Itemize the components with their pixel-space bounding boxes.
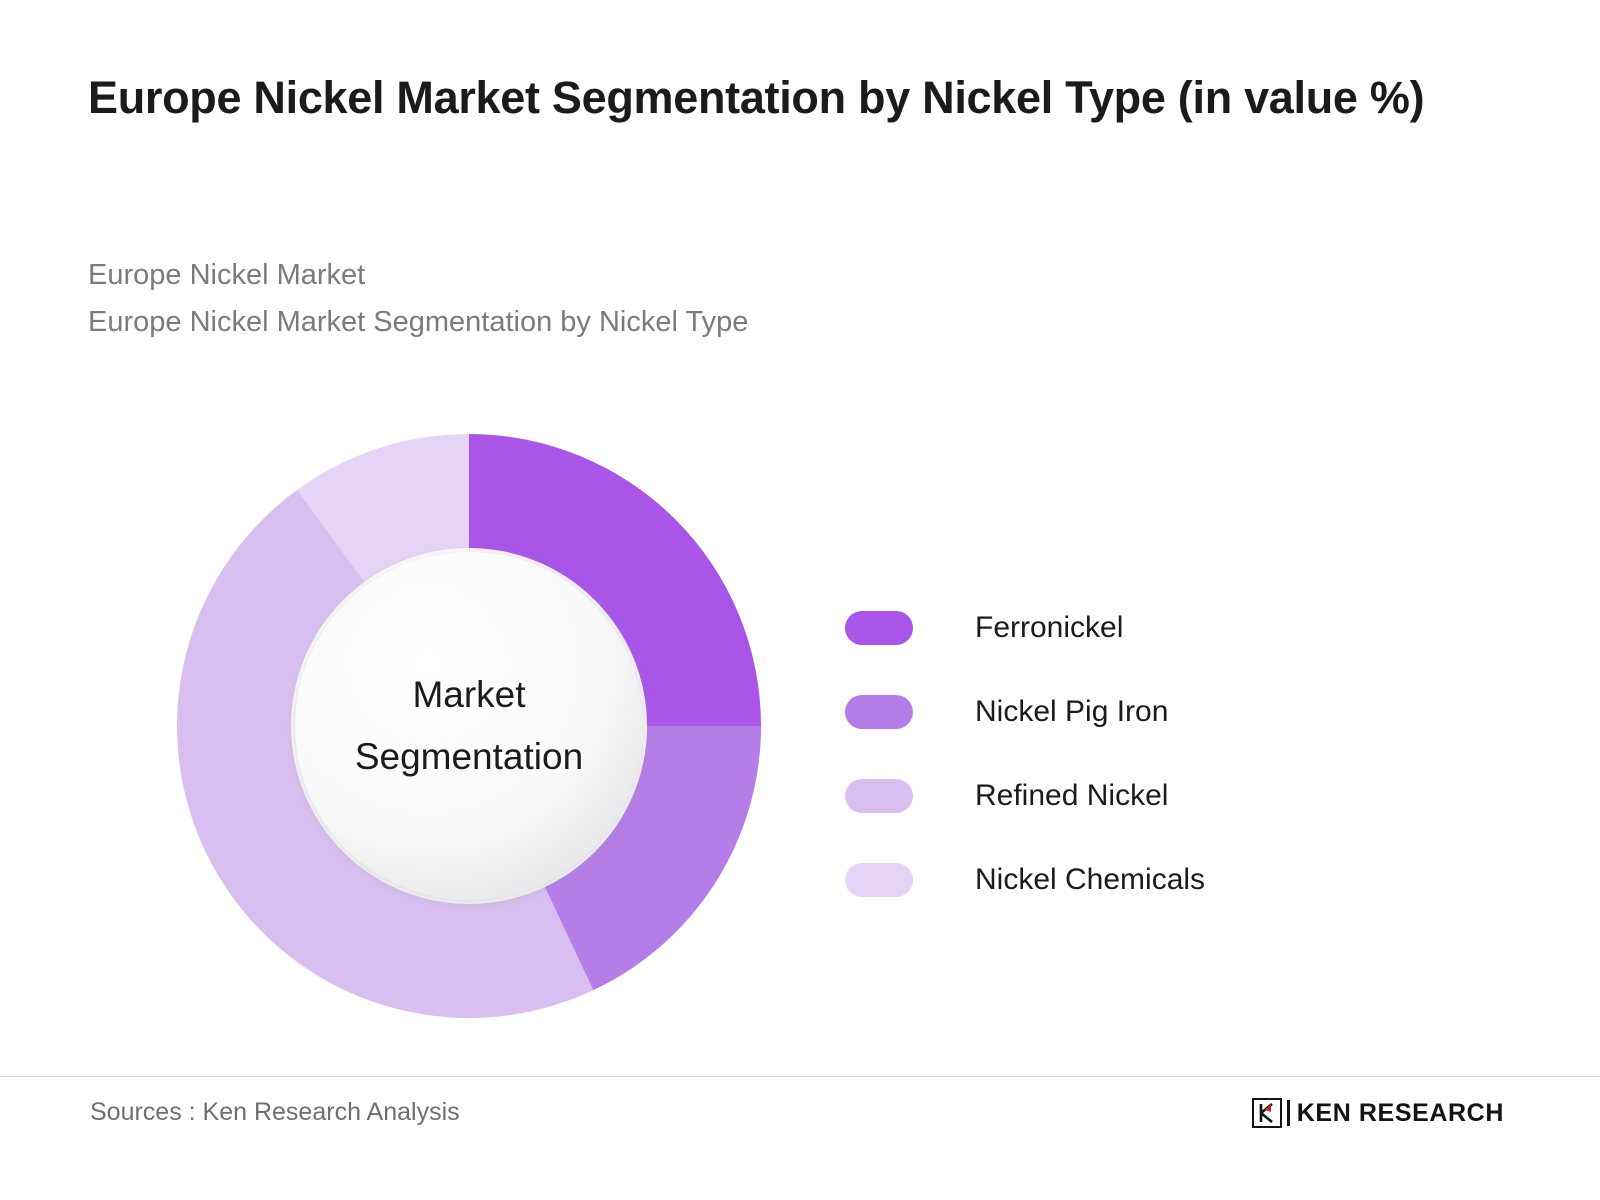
chart-legend: Ferronickel Nickel Pig Iron Refined Nick…: [845, 586, 1365, 922]
legend-label: Nickel Pig Iron: [975, 695, 1168, 729]
legend-swatch-icon: [845, 779, 913, 813]
legend-swatch-icon: [845, 611, 913, 645]
legend-item-refined-nickel[interactable]: Refined Nickel: [845, 754, 1365, 838]
chart-area: Market Segmentation Ferronickel Nickel P…: [0, 380, 1600, 1060]
legend-swatch-icon: [845, 695, 913, 729]
legend-swatch-icon: [845, 863, 913, 897]
brand-name: KEN RESEARCH: [1297, 1099, 1504, 1128]
brand-divider: [1287, 1100, 1290, 1126]
donut-svg: [173, 430, 765, 1022]
ken-research-mark-icon: [1252, 1098, 1282, 1128]
chart-page: Europe Nickel Market Segmentation by Nic…: [0, 0, 1600, 1200]
legend-label: Refined Nickel: [975, 779, 1168, 813]
legend-item-nickel-pig-iron[interactable]: Nickel Pig Iron: [845, 670, 1365, 754]
source-note: Sources : Ken Research Analysis: [90, 1098, 460, 1127]
donut-hole: [295, 552, 643, 900]
page-title: Europe Nickel Market Segmentation by Nic…: [88, 68, 1468, 128]
subtitle-block: Europe Nickel Market Europe Nickel Marke…: [88, 252, 1388, 346]
subtitle-line-1: Europe Nickel Market: [88, 252, 1388, 299]
legend-item-ferronickel[interactable]: Ferronickel: [845, 586, 1365, 670]
subtitle-line-2: Europe Nickel Market Segmentation by Nic…: [88, 299, 1388, 346]
brand-logo: KEN RESEARCH: [1252, 1096, 1504, 1130]
legend-item-nickel-chemicals[interactable]: Nickel Chemicals: [845, 838, 1365, 922]
legend-label: Nickel Chemicals: [975, 863, 1205, 897]
donut-chart: Market Segmentation: [173, 430, 765, 1022]
footer-divider: [0, 1076, 1600, 1077]
legend-label: Ferronickel: [975, 611, 1123, 645]
